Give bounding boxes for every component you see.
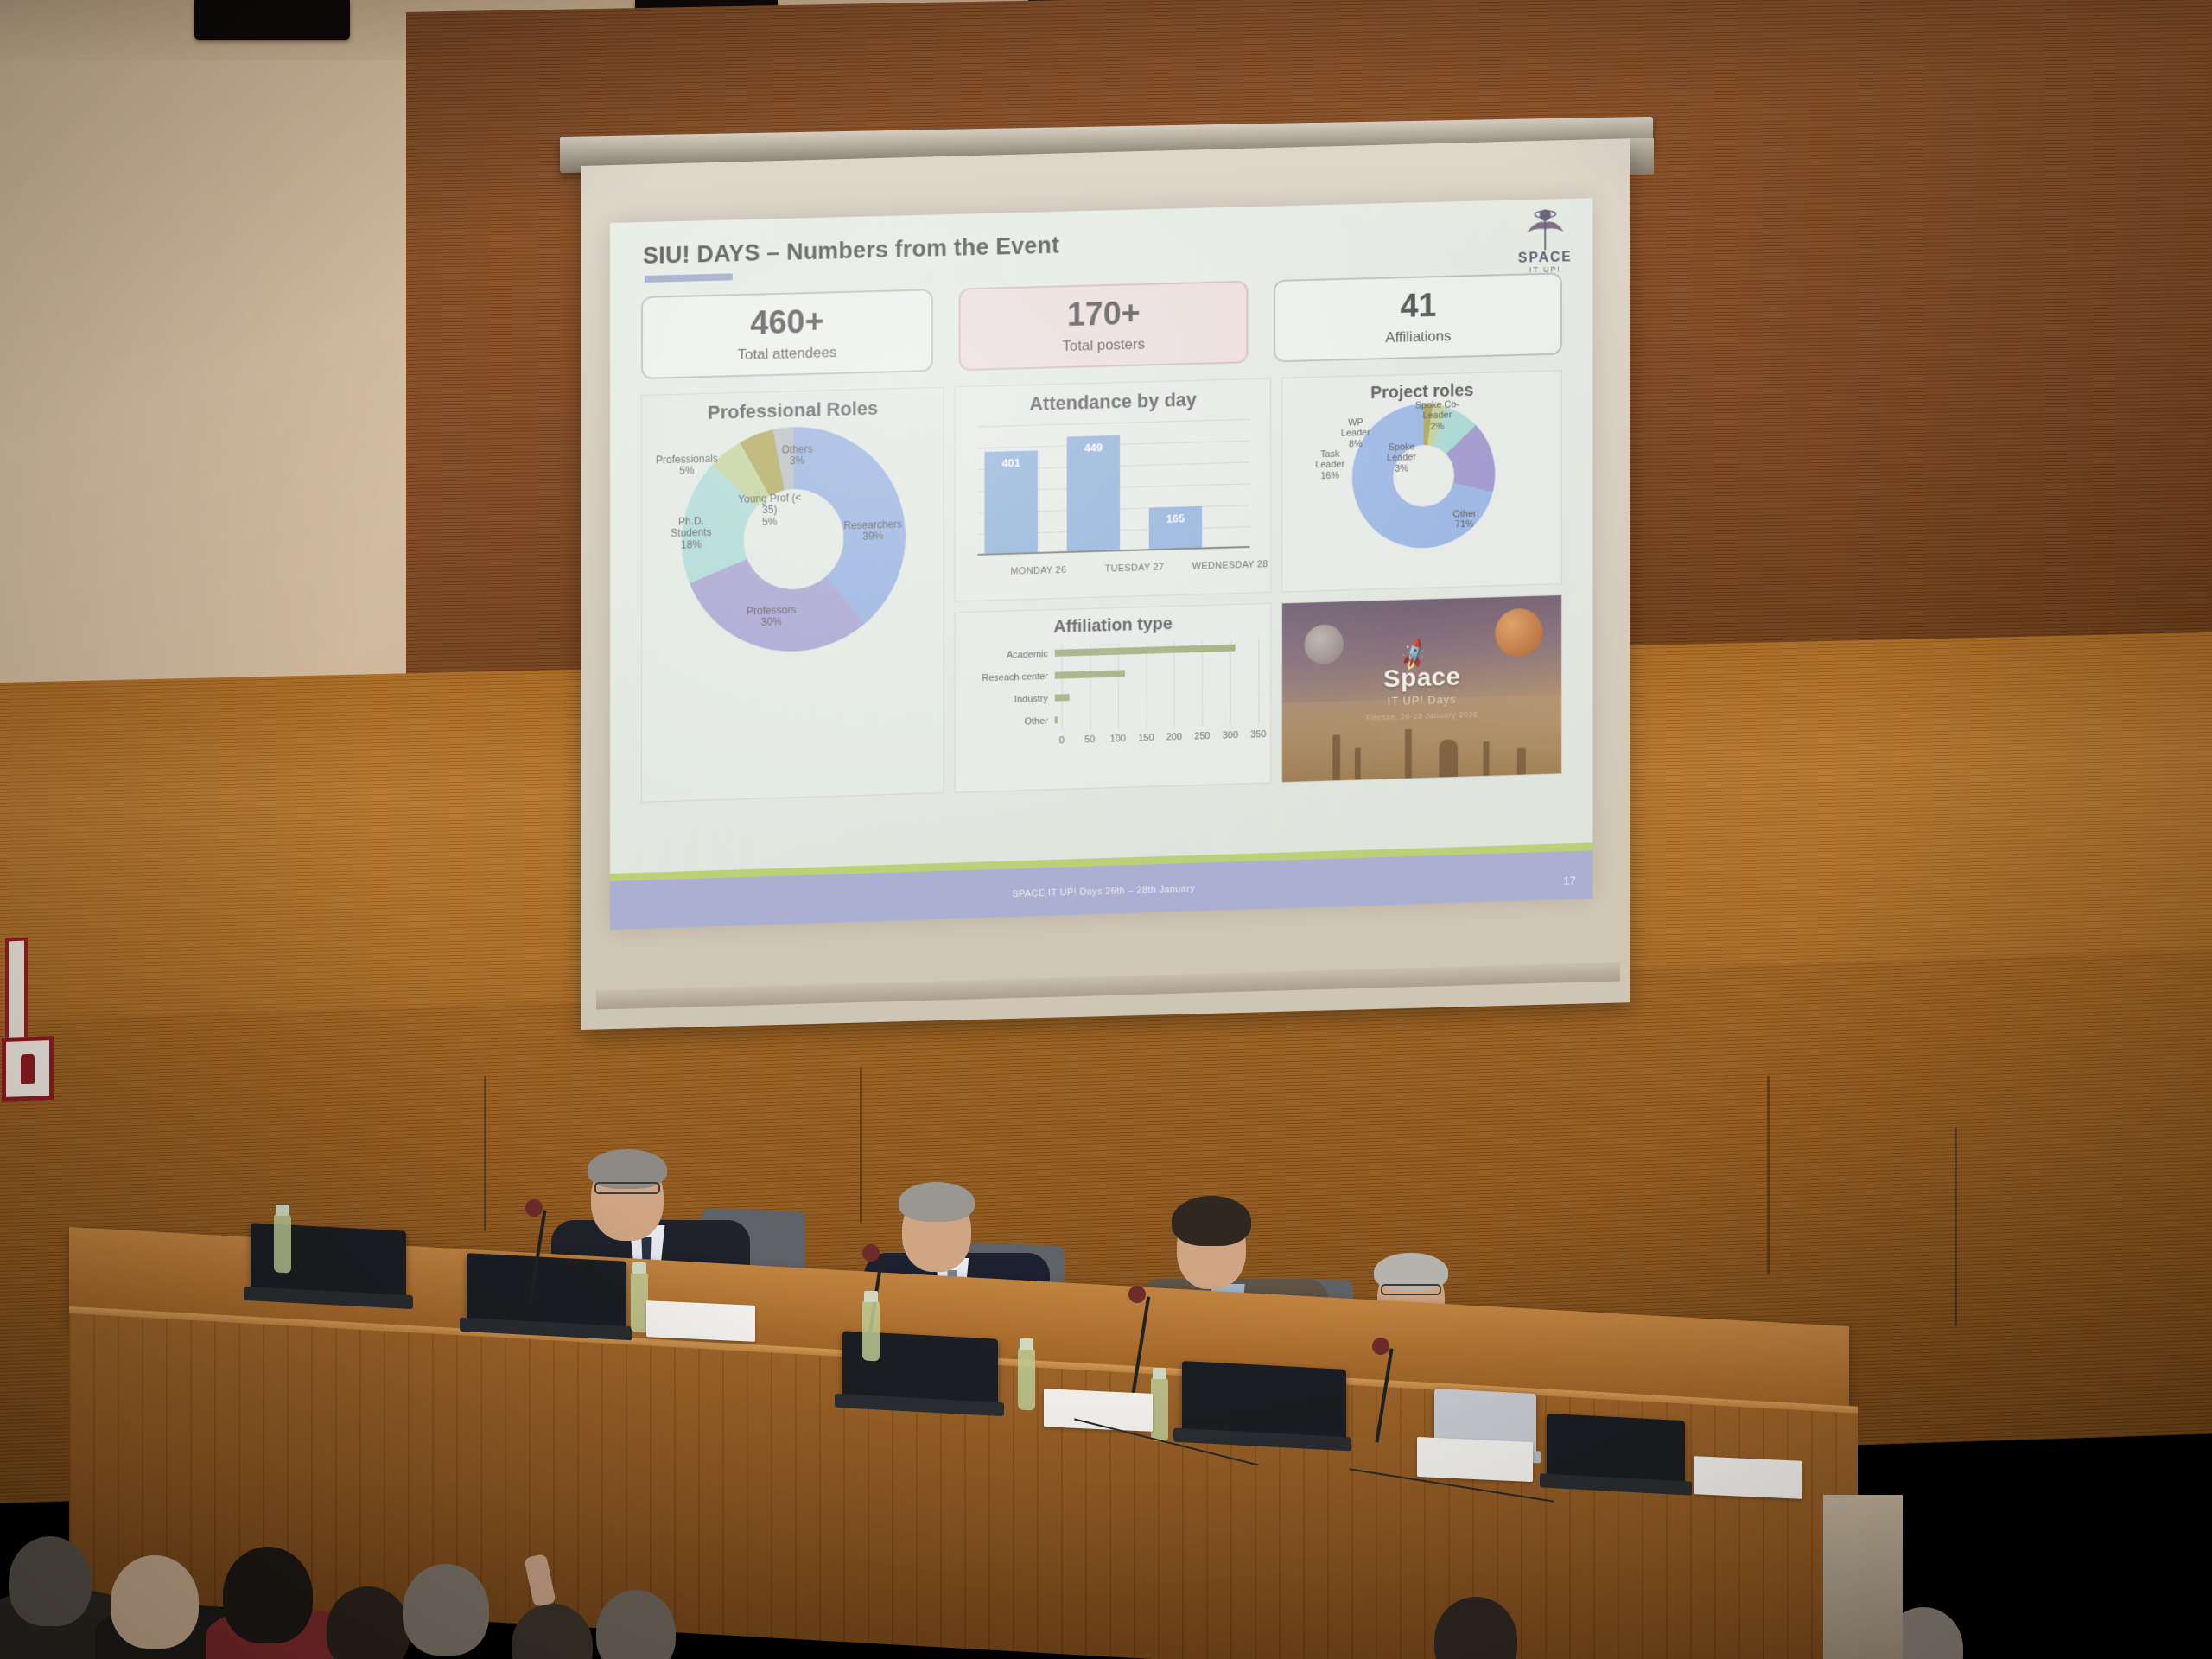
x-tick: 300	[1223, 730, 1238, 741]
bar-monday: 401	[984, 450, 1038, 555]
space-it-up-logo: SPACE IT UP!	[1516, 207, 1574, 276]
microphone-head	[862, 1244, 880, 1262]
kpi-label: Affiliations	[1385, 327, 1451, 346]
name-card	[646, 1300, 755, 1342]
water-bottle	[274, 1213, 291, 1273]
chart-attendance-by-day: Attendance by day 401 449	[955, 378, 1271, 601]
kpi-value: 41	[1401, 289, 1437, 323]
water-bottle	[1018, 1347, 1035, 1410]
donut-plot-area: Researchers39% Professors30% Ph.D. Stude…	[642, 418, 944, 798]
chart-title: Attendance by day	[956, 378, 1271, 417]
hbar-academic	[1055, 645, 1235, 657]
water-bottle	[862, 1300, 880, 1361]
bar-tuesday: 449	[1067, 435, 1120, 553]
chart-project-roles: Project roles Spoke Co-Leader2% WPLeader…	[1281, 370, 1562, 592]
speaker-4-glasses	[1381, 1284, 1441, 1295]
name-card	[1417, 1437, 1533, 1482]
x-tick: 200	[1166, 732, 1182, 742]
ceiling-light-recess	[194, 0, 350, 40]
x-axis-labels: MONDAY 26 TUESDAY 27 WEDNESDAY 28	[993, 559, 1275, 577]
hbar-plot-area: Academic Reseach center Industry Other	[966, 639, 1262, 749]
x-tick: 0	[1059, 735, 1065, 746]
bottle-cap	[1153, 1368, 1166, 1379]
bar-value: 449	[1067, 441, 1120, 455]
speaker-3-hair	[1172, 1196, 1251, 1246]
laptop-screen[interactable]	[1182, 1361, 1346, 1440]
chart-professional-roles: Professional Roles Researchers39% Profes…	[641, 387, 944, 803]
kpi-row: 460+ Total attendees 170+ Total posters …	[641, 272, 1562, 379]
microphone-head	[525, 1199, 543, 1217]
water-bottle	[1151, 1376, 1168, 1441]
astronaut-logo-icon	[1519, 207, 1572, 252]
wall-seam	[484, 1076, 486, 1231]
x-tick-wednesday: WEDNESDAY 28	[1185, 559, 1275, 572]
x-tick: 150	[1138, 733, 1154, 743]
wall-column-right	[1823, 1495, 1903, 1659]
bottle-cap	[864, 1291, 878, 1302]
projected-slide: SIU! DAYS – Numbers from the Event SPACE…	[610, 198, 1592, 930]
microphone-head	[1372, 1338, 1389, 1355]
chart-affiliation-type: Affiliation type Academic Reseach center	[955, 603, 1271, 793]
slice-label-young-prof: Young Prof (< 35)5%	[734, 493, 806, 530]
chart-title: Affiliation type	[956, 604, 1271, 640]
speaker-2-hair	[899, 1182, 975, 1222]
wall-seam	[860, 1067, 862, 1223]
bar-value: 165	[1149, 512, 1202, 526]
slice-label-professors: Professors30%	[732, 604, 811, 629]
hbar-label: Academic	[966, 649, 1055, 662]
bar-value: 401	[984, 455, 1038, 470]
donut-plot-area: Spoke Co-Leader2% WPLeader8% TaskLeader1…	[1282, 398, 1561, 584]
x-tick-tuesday: TUESDAY 27	[1089, 562, 1179, 575]
audience-head	[403, 1564, 489, 1656]
florence-skyline	[1282, 696, 1561, 783]
slice-label-researchers: Researchers39%	[833, 518, 912, 543]
title-underline	[645, 273, 733, 283]
slice-label-spoke-co-leader: Spoke Co-Leader2%	[1402, 399, 1473, 433]
slice-label-other: Other71%	[1440, 508, 1488, 531]
audience-head	[223, 1547, 313, 1643]
hbar-other	[1055, 716, 1058, 723]
hbar-label: Other	[966, 716, 1055, 729]
bottle-cap	[1020, 1338, 1033, 1350]
bar-wednesday: 165	[1149, 506, 1202, 550]
hbar-research-center	[1055, 670, 1126, 678]
microphone-head	[1128, 1286, 1146, 1303]
event-poster-image: 🚀 Space IT UP! Days Firenze, 26-28 Janua…	[1281, 594, 1562, 783]
slice-label-professionals: Professionals5%	[647, 453, 727, 478]
planet-mars-icon	[1495, 608, 1542, 658]
audience-head	[111, 1555, 199, 1649]
wall-seam	[1767, 1076, 1770, 1274]
logo-line-1: SPACE	[1518, 251, 1573, 265]
x-tick: 350	[1250, 729, 1266, 740]
speaker-1-glasses	[594, 1182, 660, 1194]
audience-head	[9, 1536, 92, 1626]
slice-label-wp-leader: WPLeader8%	[1335, 417, 1376, 450]
kpi-label: Total attendees	[737, 344, 836, 364]
kpi-value: 460+	[750, 305, 823, 340]
lecture-hall-photo: SIU! DAYS – Numbers from the Event SPACE…	[0, 0, 2212, 1659]
x-tick: 100	[1110, 734, 1126, 744]
bar-plot-area: 401 449 165 MONDAY 26 TUESDAY 27 WEDNE	[977, 419, 1249, 556]
wall-seam	[1955, 1128, 1957, 1326]
bars: 401 449 165	[984, 419, 1243, 556]
kpi-total-attendees: 460+ Total attendees	[641, 289, 933, 379]
kpi-affiliations: 41 Affiliations	[1274, 272, 1562, 362]
slice-label-task-leader: TaskLeader16%	[1306, 448, 1354, 481]
hbar-industry	[1055, 694, 1070, 701]
slice-label-others: Others3%	[770, 443, 825, 468]
hbar-label: Reseach center	[966, 671, 1055, 684]
kpi-label: Total posters	[1063, 335, 1145, 354]
hbar-label: Industry	[966, 694, 1055, 707]
kpi-value: 170+	[1067, 296, 1141, 331]
slide-title: SIU! DAYS – Numbers from the Event	[643, 232, 1059, 270]
bottle-cap	[632, 1262, 646, 1274]
x-tick: 50	[1084, 734, 1095, 745]
slide-page-number: 17	[1563, 874, 1575, 887]
bottle-cap	[276, 1205, 289, 1216]
x-axis-ticks: 0 50 100 150 200 250 300 350	[1062, 726, 1259, 749]
slice-label-phd-students: Ph.D. Students18%	[661, 515, 721, 551]
slice-label-spoke-leader: SpokeLeader3%	[1376, 442, 1427, 474]
x-tick-monday: MONDAY 26	[993, 564, 1084, 577]
wall-sign	[5, 938, 28, 1051]
planet-moon-icon	[1305, 624, 1344, 664]
kpi-total-posters: 170+ Total posters	[958, 281, 1249, 371]
fire-extinguisher-sign	[2, 1036, 54, 1102]
water-bottle	[631, 1271, 648, 1332]
x-tick: 250	[1194, 731, 1210, 741]
name-card	[1694, 1456, 1802, 1499]
laptop-screen[interactable]	[1547, 1414, 1685, 1484]
